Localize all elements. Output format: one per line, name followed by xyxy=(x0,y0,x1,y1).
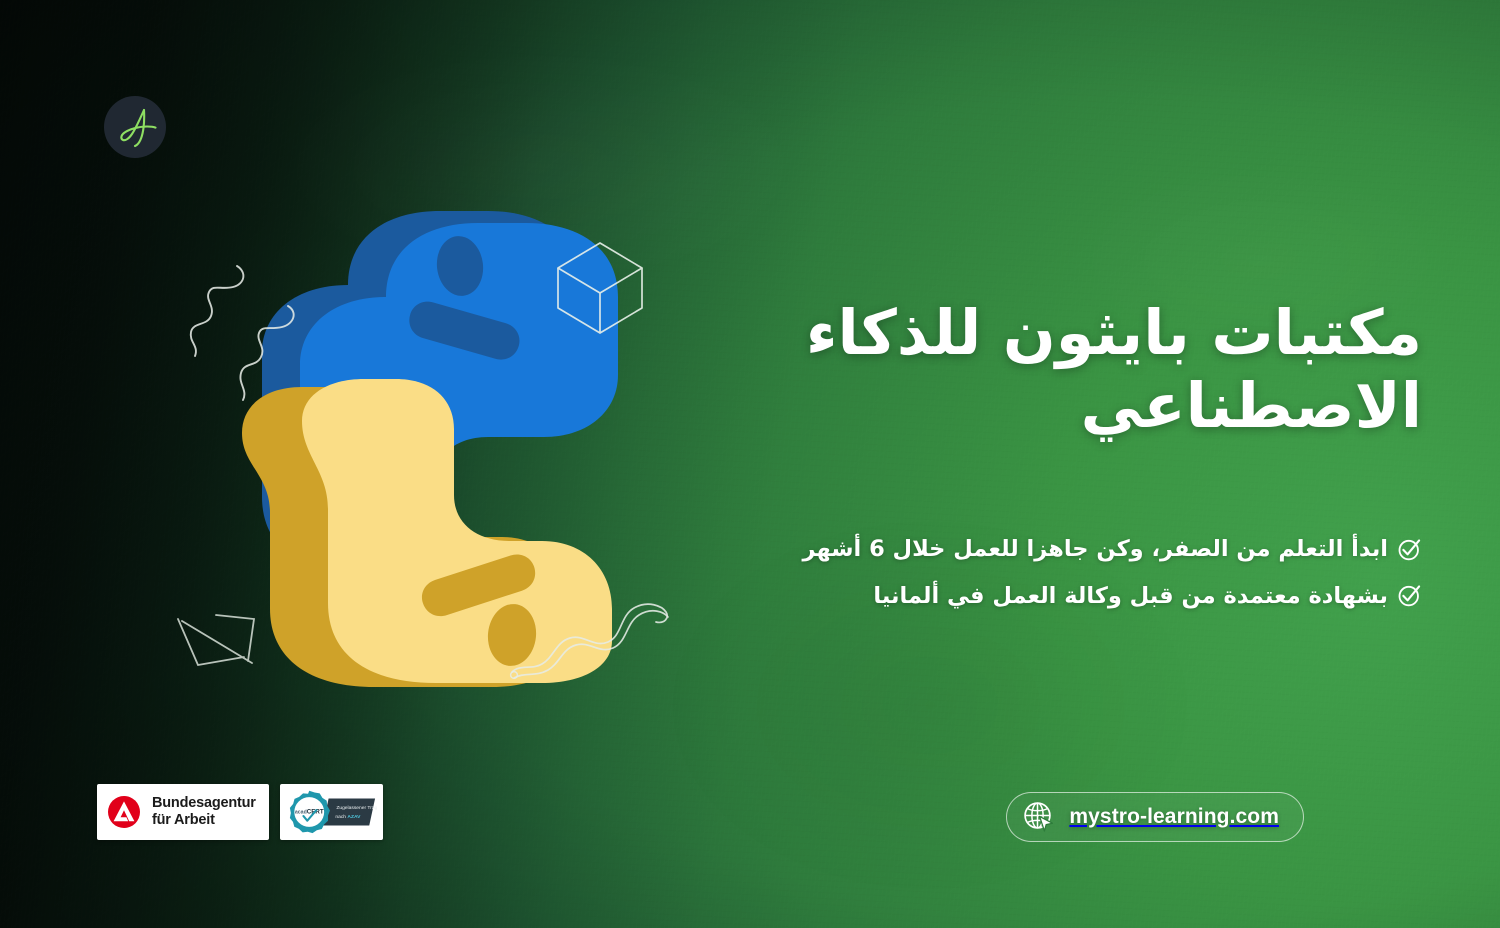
globe-cursor-icon xyxy=(1022,800,1056,834)
list-item-label: ابدأ التعلم من الصفر، وكن جاهزا للعمل خل… xyxy=(803,534,1388,564)
bundesagentur-a-logo-icon xyxy=(107,795,141,829)
headline-line-1: مكتبات بايثون للذكاء xyxy=(806,296,1422,369)
python-logo-3d-icon xyxy=(150,165,690,695)
accreditation-logos: Bundesagentur für Arbeit Zugelassener Tr… xyxy=(97,784,383,840)
bundesagentur-line-1: Bundesagentur xyxy=(152,795,256,812)
website-url-label: mystro-learning.com xyxy=(1069,805,1279,829)
list-item-label: بشهادة معتمدة من قبل وكالة العمل في ألما… xyxy=(873,581,1388,611)
brand-logo[interactable] xyxy=(104,96,166,158)
list-item: ابدأ التعلم من الصفر، وكن جاهزا للعمل خل… xyxy=(782,534,1422,564)
acadcert-banner-line-2: nach AZAV xyxy=(335,814,361,820)
website-link-pill[interactable]: mystro-learning.com xyxy=(1006,792,1304,842)
acadcert-logo: Zugelassener Träger nach AZAV acadCERT xyxy=(280,784,383,840)
page-title: مكتبات بايثون للذكاء الاصطناعي xyxy=(782,296,1422,442)
bundesagentur-fuer-arbeit-logo: Bundesagentur für Arbeit xyxy=(97,784,269,840)
feature-bullet-list: ابدأ التعلم من الصفر، وكن جاهزا للعمل خل… xyxy=(782,534,1422,611)
hero-content: مكتبات بايثون للذكاء الاصطناعي ابدأ التع… xyxy=(782,296,1422,611)
script-y-monogram-icon xyxy=(111,105,159,149)
list-item: بشهادة معتمدة من قبل وكالة العمل في ألما… xyxy=(782,581,1422,611)
check-circle-icon xyxy=(1397,583,1422,608)
acadcert-banner-line-1: Zugelassener Träger xyxy=(336,805,377,811)
check-circle-icon xyxy=(1397,537,1422,562)
acadcert-seal-icon: Zugelassener Träger nach AZAV acadCERT xyxy=(286,788,377,836)
bundesagentur-label: Bundesagentur für Arbeit xyxy=(152,795,256,829)
bundesagentur-line-2: für Arbeit xyxy=(152,812,256,829)
python-logo-illustration xyxy=(150,165,690,695)
promo-banner: مكتبات بايثون للذكاء الاصطناعي ابدأ التع… xyxy=(0,0,1500,928)
acadcert-seal-label: acadCERT xyxy=(295,808,324,815)
headline-line-2: الاصطناعي xyxy=(1081,369,1422,442)
